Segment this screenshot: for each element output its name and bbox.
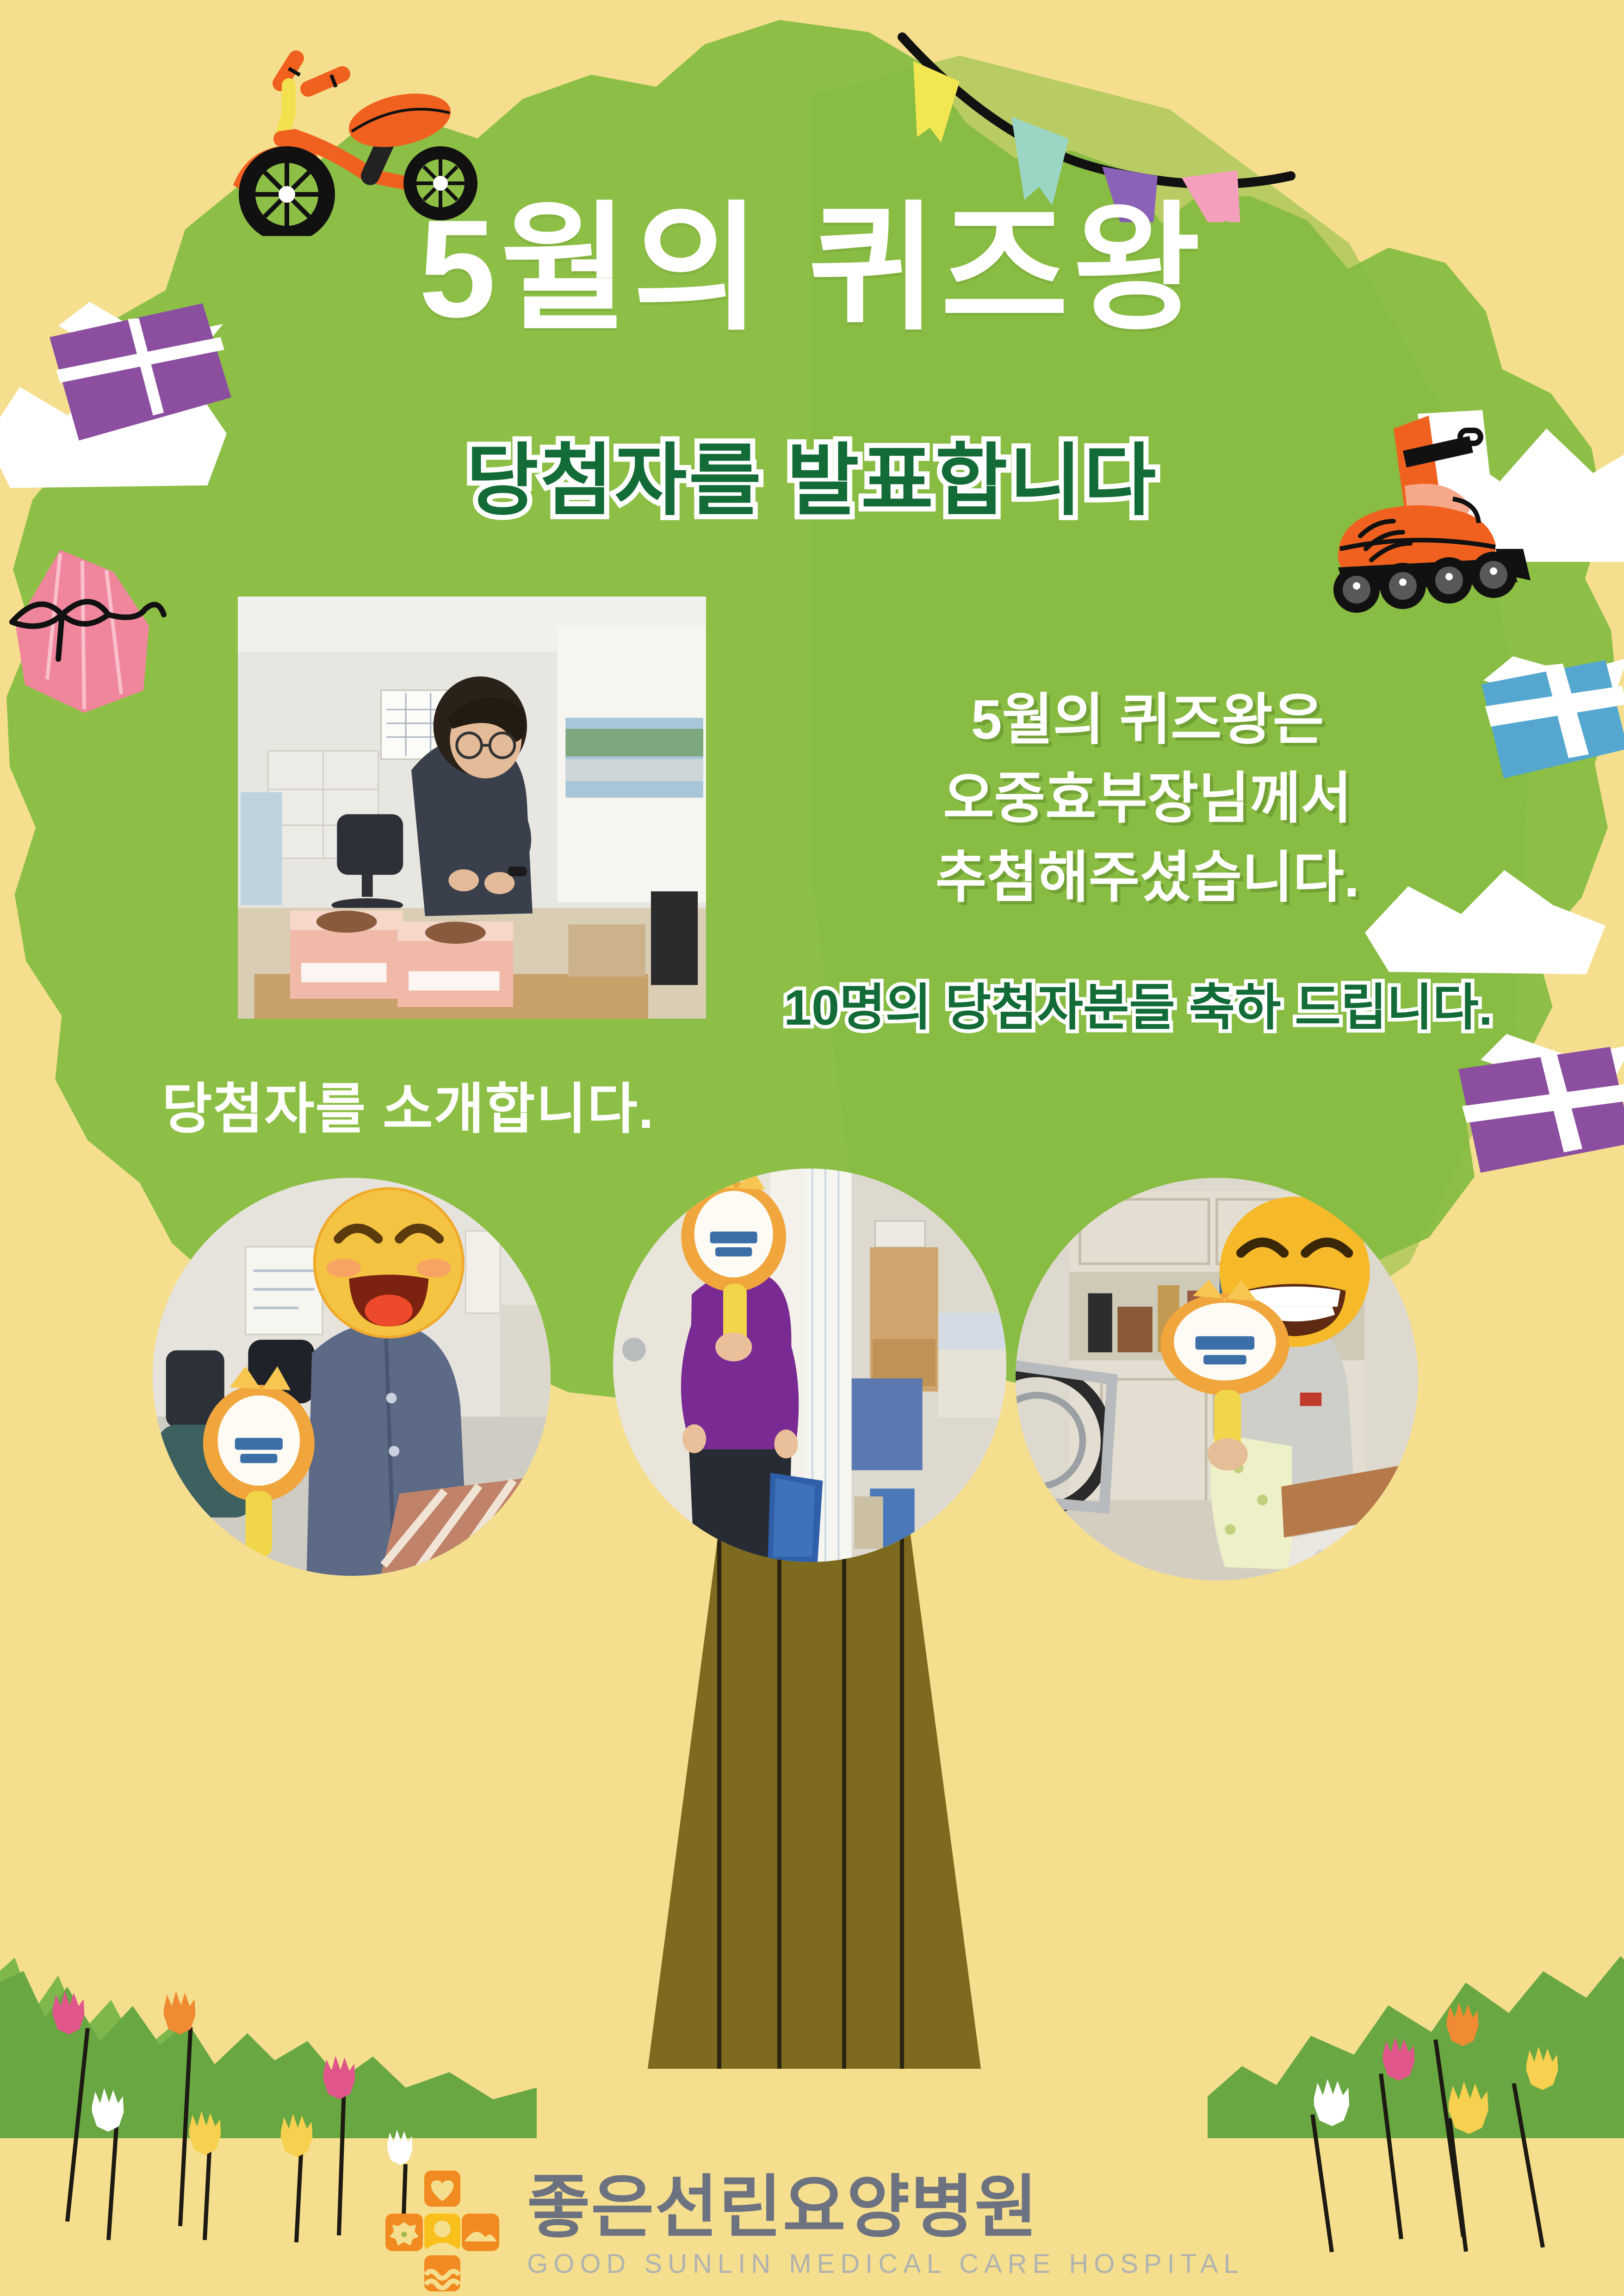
logo-name-english: GOOD SUNLIN MEDICAL CARE HOSPITAL bbox=[527, 2248, 1244, 2279]
winner-photo-1 bbox=[153, 1178, 551, 1576]
announcement-text: 5월의 퀴즈왕은 오중효부장님께서 추첨해주셨습니다. bbox=[847, 680, 1448, 917]
winner-photo-2 bbox=[613, 1169, 1006, 1562]
announcement-line-2: 오중효부장님께서 bbox=[847, 759, 1448, 838]
grass-right bbox=[1208, 1948, 1624, 2138]
poster-root: 5월의 퀴즈왕 당첨자를 발표합니다 bbox=[0, 0, 1624, 2296]
winner-intro-text: 당첨자를 소개합니다. bbox=[162, 1064, 655, 1144]
logo-mark-icon bbox=[380, 2171, 505, 2296]
gift-pouch-pink-icon bbox=[5, 537, 171, 717]
congratulations-text: 10명의 당첨자분들 축하 드립니다. bbox=[722, 967, 1555, 1039]
logo-text: 좋은선린요양병원 GOOD SUNLIN MEDICAL CARE HOSPIT… bbox=[527, 2171, 1244, 2279]
announcement-line-1: 5월의 퀴즈왕은 bbox=[847, 680, 1448, 759]
main-photo bbox=[231, 590, 713, 1025]
announcement-line-3: 추첨해주셨습니다. bbox=[847, 838, 1448, 917]
gift-box-purple-right-icon bbox=[1453, 1032, 1624, 1189]
winner-photo-3 bbox=[1016, 1178, 1418, 1580]
hospital-logo: 좋은선린요양병원 GOOD SUNLIN MEDICAL CARE HOSPIT… bbox=[0, 2171, 1624, 2296]
page-title: 5월의 퀴즈왕 bbox=[0, 199, 1624, 338]
gift-box-blue-icon bbox=[1476, 653, 1624, 801]
page-subtitle: 당첨자를 발표합니다 bbox=[0, 417, 1624, 530]
logo-name-korean: 좋은선린요양병원 bbox=[527, 2173, 1244, 2242]
